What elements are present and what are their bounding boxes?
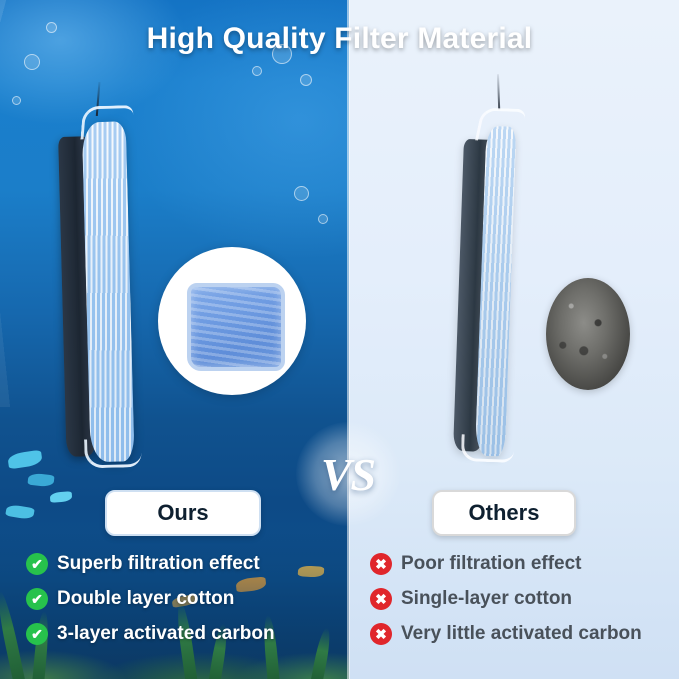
- list-item: ✖ Poor filtration effect: [370, 548, 670, 580]
- feature-text: Very little activated carbon: [401, 624, 642, 645]
- fish: [7, 450, 43, 470]
- list-item: ✔ Double layer cotton: [26, 583, 346, 615]
- cross-icon: ✖: [370, 553, 392, 575]
- feature-text: Single-layer cotton: [401, 589, 572, 610]
- list-item: ✖ Single-layer cotton: [370, 583, 670, 615]
- center-divider: [347, 0, 350, 679]
- product-comparison-image: High Quality Filter Material VS Ours Oth…: [0, 0, 679, 679]
- cartridge-frame-top: [80, 105, 134, 139]
- list-item: ✔ Superb filtration effect: [26, 548, 346, 580]
- bubble: [12, 96, 21, 105]
- others-filter-cartridge: [449, 95, 534, 467]
- others-label-text: Others: [469, 500, 540, 526]
- vs-label: VS: [296, 422, 400, 526]
- ours-feature-list: ✔ Superb filtration effect ✔ Double laye…: [26, 548, 346, 653]
- bubble: [318, 214, 328, 224]
- vs-badge: VS: [296, 422, 400, 526]
- ours-closeup-inset: [158, 247, 306, 395]
- ours-filter-cartridge: [57, 99, 142, 471]
- check-icon: ✔: [26, 553, 48, 575]
- cartridge-frame-bottom: [461, 434, 515, 463]
- fish: [5, 504, 35, 521]
- bubble: [252, 66, 262, 76]
- feature-text: Superb filtration effect: [57, 554, 260, 575]
- cartridge-frame-top: [475, 108, 527, 142]
- blue-filter-pad: [187, 283, 285, 371]
- bubble: [294, 186, 309, 201]
- page-title: High Quality Filter Material: [0, 22, 679, 56]
- bubble: [300, 74, 312, 86]
- bubble: [24, 54, 40, 70]
- feature-text: Double layer cotton: [57, 589, 234, 610]
- cross-icon: ✖: [370, 588, 392, 610]
- cross-icon: ✖: [370, 623, 392, 645]
- cartridge-frame-bottom: [84, 438, 142, 468]
- check-icon: ✔: [26, 588, 48, 610]
- feature-text: 3-layer activated carbon: [57, 624, 275, 645]
- ours-label-pill: Ours: [105, 490, 261, 536]
- filter-floss-layer: [82, 121, 135, 462]
- check-icon: ✔: [26, 623, 48, 645]
- others-closeup-inset: [546, 278, 630, 390]
- others-feature-list: ✖ Poor filtration effect ✖ Single-layer …: [370, 548, 670, 653]
- list-item: ✔ 3-layer activated carbon: [26, 618, 346, 650]
- ours-label-text: Ours: [157, 500, 208, 526]
- others-label-pill: Others: [432, 490, 576, 536]
- fish: [50, 491, 73, 503]
- feature-text: Poor filtration effect: [401, 554, 582, 575]
- fish: [27, 473, 54, 488]
- list-item: ✖ Very little activated carbon: [370, 618, 670, 650]
